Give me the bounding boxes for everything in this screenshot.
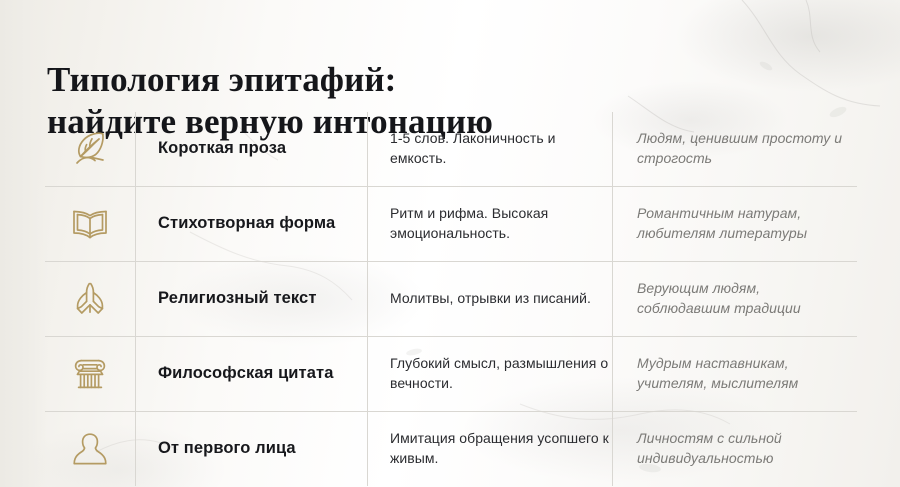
row-name-cell: От первого лица	[135, 412, 367, 486]
row-audience-cell: Личностям с сильной индивидуальностью	[612, 412, 857, 486]
row-name-cell: Стихотворная форма	[135, 187, 367, 261]
table-row: Короткая проза 1-5 слов. Лаконичность и …	[45, 112, 857, 186]
table-row: Религиозный текст Молитвы, отрывки из пи…	[45, 261, 857, 336]
row-description-text: Имитация обращения усопшего к живым.	[390, 429, 612, 469]
row-description-text: Молитвы, отрывки из писаний.	[390, 289, 591, 309]
row-audience-text: Верующим людям, соблюдавшим традиции	[637, 279, 857, 319]
row-audience-cell: Мудрым наставникам, учителям, мыслителям	[612, 337, 857, 411]
typology-table: Короткая проза 1-5 слов. Лаконичность и …	[45, 112, 857, 486]
ionic-column-icon	[68, 352, 112, 396]
row-name-cell: Философская цитата	[135, 337, 367, 411]
table-row: От первого лица Имитация обращения усопш…	[45, 411, 857, 486]
row-audience-text: Людям, ценившим простоту и строгость	[637, 129, 857, 169]
row-description-cell: Молитвы, отрывки из писаний.	[367, 262, 612, 336]
row-name-text: Короткая проза	[158, 138, 286, 159]
feather-quill-icon	[68, 127, 112, 171]
open-book-icon	[68, 202, 112, 246]
row-description-text: Ритм и рифма. Высокая эмоциональность.	[390, 204, 612, 244]
infographic-card: Типология эпитафий: найдите верную интон…	[0, 0, 900, 487]
row-icon-cell	[45, 262, 135, 336]
row-description-cell: Ритм и рифма. Высокая эмоциональность.	[367, 187, 612, 261]
row-audience-text: Романтичным натурам, любителям литератур…	[637, 204, 857, 244]
row-description-cell: Имитация обращения усопшего к живым.	[367, 412, 612, 486]
row-icon-cell	[45, 412, 135, 486]
left-accent-band	[0, 0, 48, 487]
row-icon-cell	[45, 187, 135, 261]
row-description-text: Глубокий смысл, размышления о вечности.	[390, 354, 612, 394]
row-icon-cell	[45, 112, 135, 186]
row-name-cell: Религиозный текст	[135, 262, 367, 336]
row-description-cell: 1-5 слов. Лаконичность и емкость.	[367, 112, 612, 186]
row-name-text: Религиозный текст	[158, 288, 317, 309]
row-audience-cell: Верующим людям, соблюдавшим традиции	[612, 262, 857, 336]
row-audience-cell: Людям, ценившим простоту и строгость	[612, 112, 857, 186]
row-audience-cell: Романтичным натурам, любителям литератур…	[612, 187, 857, 261]
table-row: Стихотворная форма Ритм и рифма. Высокая…	[45, 186, 857, 261]
row-name-cell: Короткая проза	[135, 112, 367, 186]
person-bust-icon	[68, 427, 112, 471]
praying-hands-icon	[68, 277, 112, 321]
row-name-text: Философская цитата	[158, 363, 333, 384]
table-row: Философская цитата Глубокий смысл, размы…	[45, 336, 857, 411]
row-description-text: 1-5 слов. Лаконичность и емкость.	[390, 129, 612, 169]
row-name-text: От первого лица	[158, 438, 296, 459]
row-audience-text: Личностям с сильной индивидуальностью	[637, 429, 857, 469]
row-description-cell: Глубокий смысл, размышления о вечности.	[367, 337, 612, 411]
row-audience-text: Мудрым наставникам, учителям, мыслителям	[637, 354, 857, 394]
page-title-line-1: Типология эпитафий:	[47, 60, 396, 99]
row-icon-cell	[45, 337, 135, 411]
row-name-text: Стихотворная форма	[158, 213, 335, 234]
